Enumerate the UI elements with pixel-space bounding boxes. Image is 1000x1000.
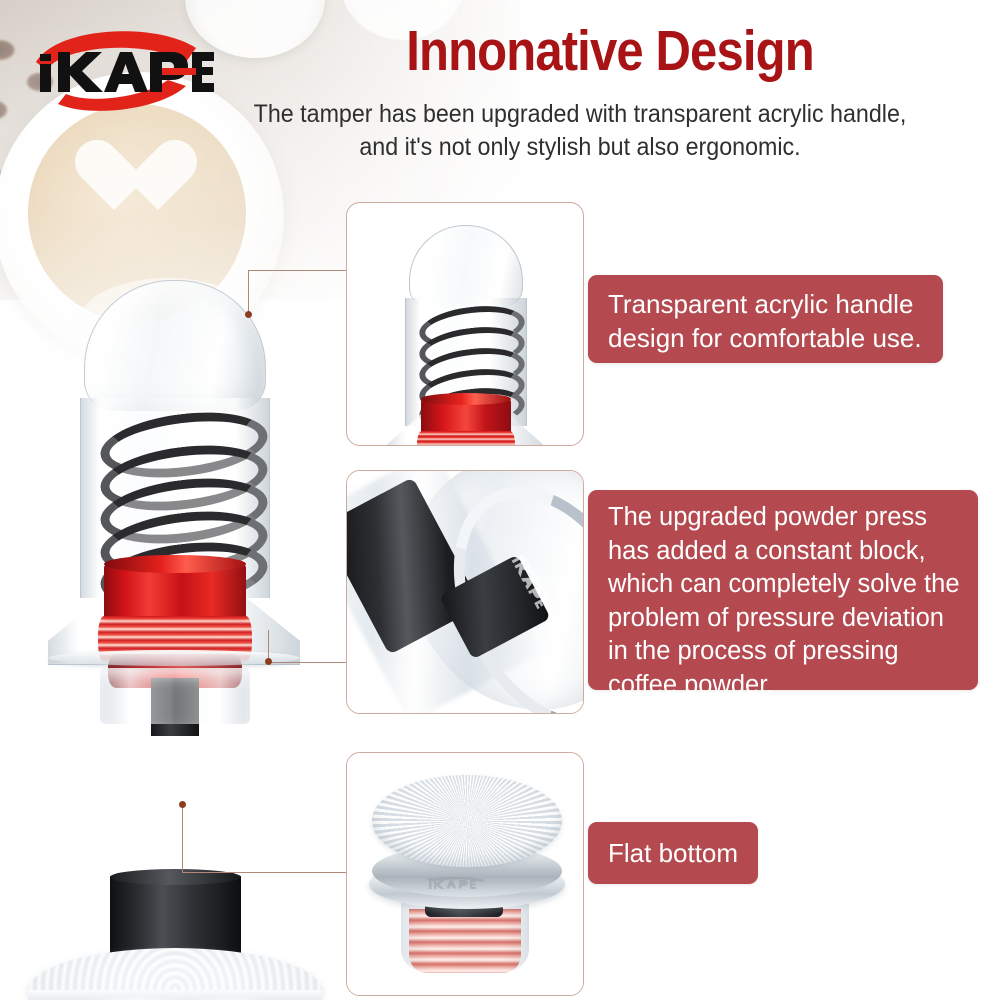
callout-constant-block-line-2: has added a constant block, (608, 535, 962, 569)
red-ring-below (409, 909, 521, 973)
ikape-logo-icon (18, 18, 214, 114)
main-product-image (18, 272, 338, 832)
page-title: Innonative Design (335, 18, 885, 84)
detail-panel-constant-block (346, 470, 584, 714)
latte-heart-icon (92, 142, 180, 230)
bottom-engraved-logo-icon (425, 875, 487, 893)
page-subtitle: The tamper has been upgraded with transp… (208, 98, 952, 164)
detail-panel-acrylic-handle-image (347, 203, 583, 445)
acrylic-handle-dome (84, 280, 266, 411)
subtitle-line-2: and it's not only stylish but also ergon… (208, 131, 952, 164)
detail-panel-flat-bottom (346, 752, 584, 996)
callout-constant-block: The upgraded powder press has added a co… (588, 490, 978, 690)
callout-flat-bottom-line-1: Flat bottom (608, 836, 738, 870)
connector-line-feature-1-horizontal (248, 270, 348, 271)
connector-dot-feature-3 (179, 801, 186, 808)
callout-acrylic-handle-line-2: design for comfortable use. (608, 321, 927, 355)
detail-panel-constant-block-image (347, 471, 583, 713)
connector-dot-feature-1 (245, 311, 252, 318)
callout-constant-block-line-4: problem of pressure deviation (608, 602, 962, 636)
red-threads-closeup (417, 431, 515, 446)
connector-line-feature-1-vertical (248, 270, 249, 314)
handle-dome-closeup (409, 225, 523, 306)
detail-panel-acrylic-handle (346, 202, 584, 446)
detail-panel-flat-bottom-image (347, 753, 583, 995)
latte-heart-icon-bottom-right (888, 862, 950, 924)
connector-line-feature-3-horizontal (182, 872, 348, 873)
acrylic-collar (100, 668, 250, 724)
red-anodized-ring (104, 564, 246, 622)
product-infographic-page: Innonative Design The tamper has been up… (0, 0, 1000, 1000)
connector-line-feature-2-horizontal (268, 662, 348, 663)
subtitle-line-1: The tamper has been upgraded with transp… (208, 98, 952, 131)
red-ring-closeup (421, 399, 511, 435)
connector-dot-feature-2 (265, 658, 272, 665)
callout-flat-bottom: Flat bottom (588, 822, 758, 884)
callout-constant-block-line-5: in the process of pressing (608, 635, 962, 669)
flat-bottom-surface (372, 775, 562, 867)
acrylic-flare-lip (48, 650, 300, 666)
callout-acrylic-handle: Transparent acrylic handle design for co… (588, 275, 943, 363)
callout-constant-block-line-6: coffee powder. (608, 669, 962, 703)
callout-acrylic-handle-line-1: Transparent acrylic handle (608, 287, 927, 321)
callout-constant-block-line-1: The upgraded powder press (608, 501, 962, 535)
connector-line-feature-3-vertical (182, 805, 183, 873)
callout-constant-block-line-3: which can completely solve the (608, 568, 962, 602)
